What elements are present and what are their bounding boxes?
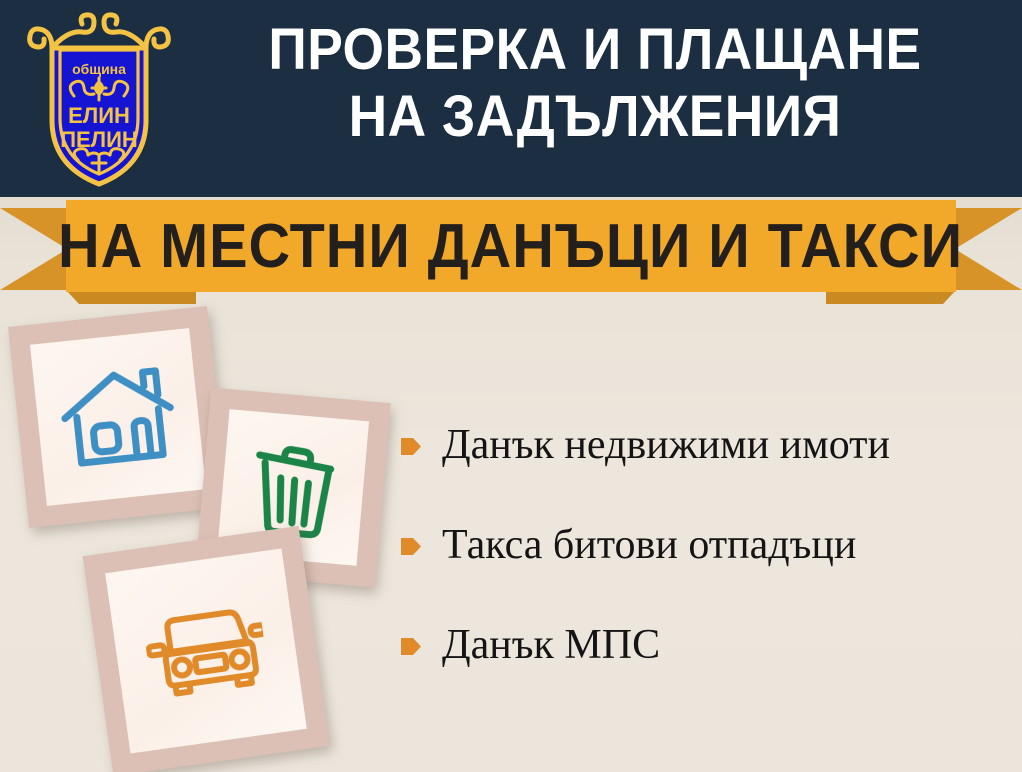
page-title-line-1: ПРОВЕРКА И ПЛАЩАНЕ xyxy=(213,16,977,83)
header-band: община ЕЛИН ПЕЛИН xyxy=(0,0,1022,197)
arrow-bullet-icon xyxy=(400,634,422,659)
arrow-bullet-icon xyxy=(400,534,422,559)
stamp-card-car xyxy=(83,526,330,772)
subtitle-ribbon: НА МЕСТНИ ДАНЪЦИ И ТАКСИ xyxy=(0,196,1022,308)
crest-label-line1: ЕЛИН xyxy=(68,103,130,128)
crest-label-top: община xyxy=(72,61,126,77)
crest-label-line2: ПЕЛИН xyxy=(60,127,138,152)
ribbon-fold-left xyxy=(66,290,196,304)
list-item-label: Данък МПС xyxy=(442,624,660,666)
stamp-card-house xyxy=(8,306,228,528)
list-item[interactable]: Такса битови отпадъци xyxy=(400,524,1010,566)
car-front-icon xyxy=(141,595,271,706)
tax-type-list: Данък недвижими имоти Такса битови отпад… xyxy=(400,424,1010,724)
ribbon-banner: НА МЕСТНИ ДАНЪЦИ И ТАКСИ xyxy=(66,200,956,292)
ribbon-text: НА МЕСТНИ ДАНЪЦИ И ТАКСИ xyxy=(59,211,964,282)
stamp-inner-house xyxy=(30,328,206,506)
page-title-line-2: НА ЗАДЪЛЖЕНИЯ xyxy=(213,83,977,150)
poster-root: община ЕЛИН ПЕЛИН xyxy=(0,0,1022,772)
list-item-label: Такса битови отпадъци xyxy=(442,524,856,566)
municipality-crest-logo: община ЕЛИН ПЕЛИН xyxy=(22,8,177,190)
ribbon-fold-right xyxy=(826,290,956,304)
list-item[interactable]: Данък МПС xyxy=(400,624,1010,666)
list-item[interactable]: Данък недвижими имоти xyxy=(400,424,1010,466)
house-icon xyxy=(54,361,182,473)
stamp-inner-car xyxy=(105,548,307,753)
arrow-bullet-icon xyxy=(400,434,422,459)
page-title: ПРОВЕРКА И ПЛАЩАНЕ НА ЗАДЪЛЖЕНИЯ xyxy=(213,16,977,151)
list-item-label: Данък недвижими имоти xyxy=(442,424,890,466)
